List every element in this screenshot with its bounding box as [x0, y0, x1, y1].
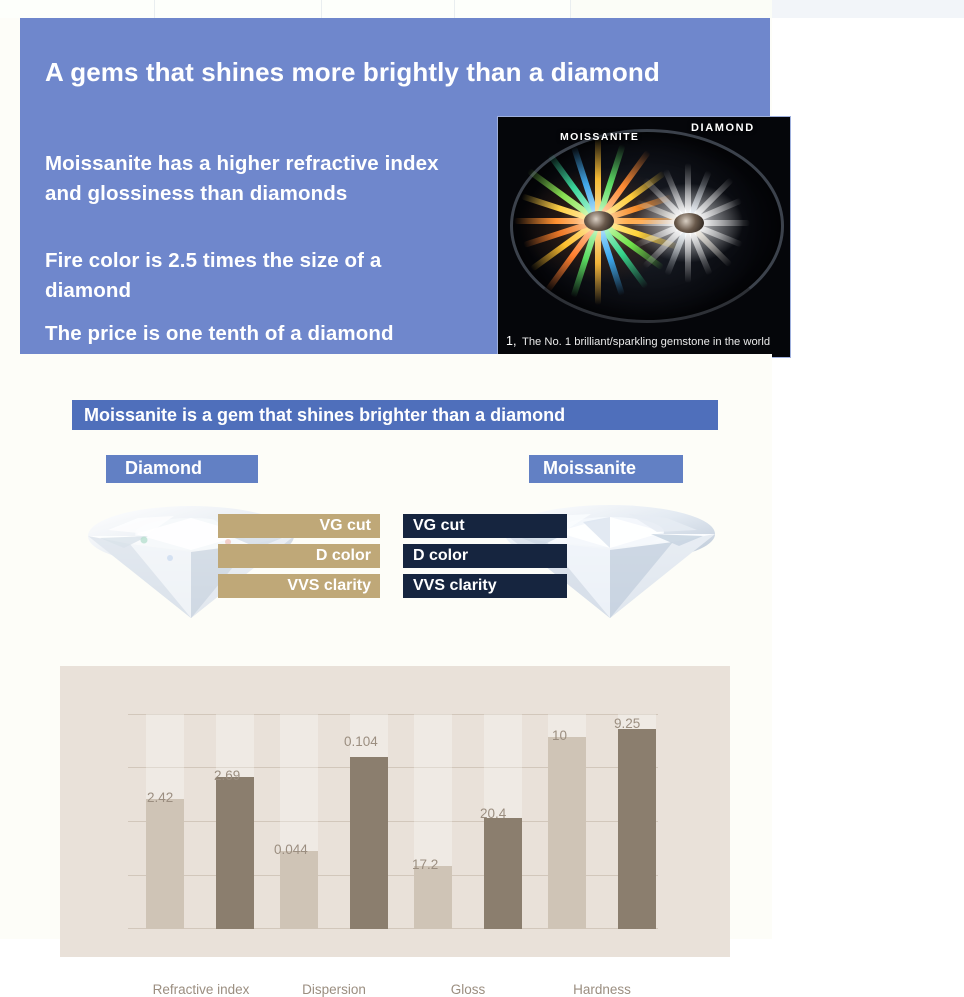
badge-moissanite: Moissanite — [529, 455, 683, 483]
diamond-stone — [674, 213, 704, 233]
moissanite-spec-cut: VG cut — [403, 514, 567, 538]
hero-paragraph-2: Fire color is 2.5 times the size of a di… — [45, 246, 445, 306]
chart-plot-area: 2.42 2.69 0.044 0.104 17.2 20.4 10 9.25 … — [128, 714, 658, 929]
bar-value-diamond-gloss: 17.2 — [412, 857, 438, 872]
browser-tab[interactable] — [455, 0, 570, 18]
moissanite-spec-clarity-label: VVS clarity — [413, 577, 497, 595]
bar-value-moissanite-gloss: 20.4 — [480, 806, 506, 821]
x-axis-label-refractive-index: Refractive index — [136, 982, 266, 997]
x-axis-label-dispersion: Dispersion — [270, 982, 398, 997]
hero-paragraph-3: The price is one tenth of a diamond — [45, 319, 465, 349]
bar-value-moissanite-hardness: 9.25 — [614, 716, 640, 731]
moissanite-spec-color: D color — [403, 544, 567, 568]
photo-caption: 1, The No. 1 brilliant/sparkling gemston… — [498, 329, 790, 357]
bar-value-diamond-hardness: 10 — [552, 728, 567, 743]
badge-diamond-label: Diamond — [125, 458, 202, 479]
moissanite-spec-cut-label: VG cut — [413, 517, 465, 535]
page-canvas: A gems that shines more brightly than a … — [0, 18, 772, 939]
moissanite-stone — [584, 211, 614, 231]
bar-diamond-hardness — [548, 737, 586, 929]
bar-moissanite-dispersion — [350, 757, 388, 929]
page-title: A gems that shines more brightly than a … — [45, 57, 745, 88]
browser-tab[interactable] — [322, 0, 454, 18]
tab-divider — [570, 0, 571, 18]
bar-moissanite-hardness — [618, 729, 656, 929]
diamond-spec-color: D color — [218, 544, 380, 568]
comparison-banner: Moissanite is a gem that shines brighter… — [72, 400, 718, 430]
browser-tab[interactable] — [155, 0, 321, 18]
hero-paragraph-1: Moissanite has a higher refractive index… — [45, 149, 465, 209]
browser-tab[interactable] — [0, 0, 154, 18]
moissanite-spec-clarity: VVS clarity — [403, 574, 567, 598]
photo-label-moissanite: MOISSANITE — [560, 131, 639, 143]
hero-banner: A gems that shines more brightly than a … — [20, 18, 770, 354]
diamond-spec-clarity-label: VVS clarity — [287, 577, 371, 595]
bar-moissanite-gloss — [484, 818, 522, 929]
page-right-gutter — [772, 18, 964, 939]
bar-value-diamond-dispersion: 0.044 — [274, 842, 308, 857]
badge-diamond: Diamond — [106, 455, 258, 483]
bar-diamond-gloss — [414, 866, 452, 929]
x-axis-label-gloss: Gloss — [404, 982, 532, 997]
diamond-spec-clarity: VVS clarity — [218, 574, 380, 598]
bar-diamond-dispersion — [280, 851, 318, 929]
photo-caption-number: 1, — [506, 334, 516, 348]
browser-tab-strip — [0, 0, 964, 18]
bar-moissanite-refractive-index — [216, 777, 254, 929]
diamond-spec-color-label: D color — [316, 547, 371, 565]
moissanite-spec-color-label: D color — [413, 547, 468, 565]
bar-value-diamond-refractive-index: 2.42 — [147, 790, 173, 805]
badge-moissanite-label: Moissanite — [543, 458, 636, 479]
diamond-spec-cut: VG cut — [218, 514, 380, 538]
bar-value-moissanite-refractive-index: 2.69 — [214, 768, 240, 783]
diamond-spec-cut-label: VG cut — [319, 517, 371, 535]
bar-value-moissanite-dispersion: 0.104 — [344, 734, 378, 749]
gemstone-comparison-photo: MOISSANITE DIAMOND 1, The No. 1 brillian… — [497, 116, 791, 358]
browser-strip-right-pane — [772, 0, 964, 18]
bar-diamond-refractive-index — [146, 799, 184, 929]
photo-label-diamond: DIAMOND — [691, 122, 755, 134]
photo-caption-text: The No. 1 brilliant/sparkling gemstone i… — [522, 336, 770, 348]
property-comparison-chart: 2.42 2.69 0.044 0.104 17.2 20.4 10 9.25 … — [60, 666, 730, 957]
comparison-section: Moissanite is a gem that shines brighter… — [0, 354, 772, 654]
comparison-banner-text: Moissanite is a gem that shines brighter… — [84, 405, 565, 426]
x-axis-label-hardness: Hardness — [538, 982, 666, 997]
photo-scene: MOISSANITE DIAMOND — [498, 117, 790, 329]
